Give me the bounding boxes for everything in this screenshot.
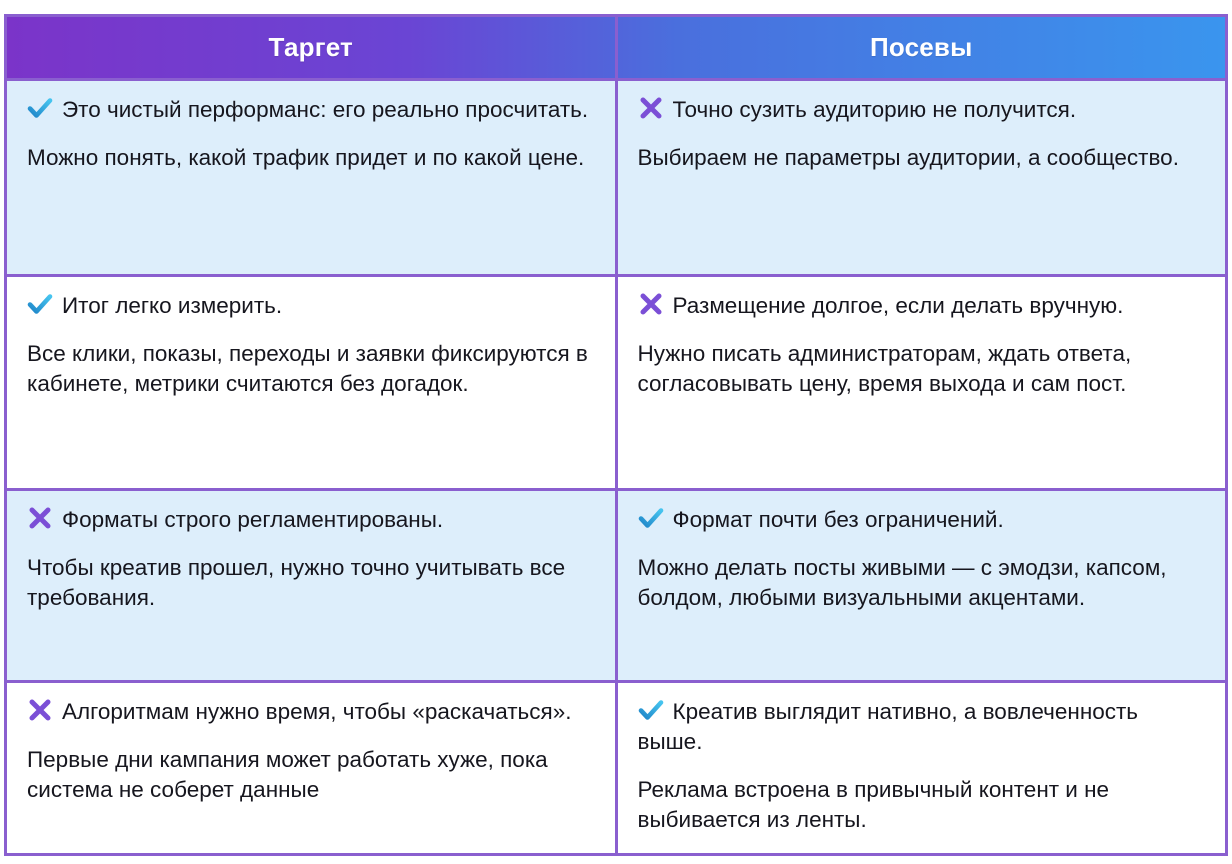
cell-body: Можно понять, какой трафик придет и по к…	[27, 143, 595, 173]
cell-body: Все клики, показы, переходы и заявки фик…	[27, 339, 595, 399]
cell-target-1: Это чистый перформанс: его реально просч…	[7, 81, 618, 274]
cross-icon	[638, 292, 664, 316]
cell-headline: Размещение долгое, если делать вручную.	[638, 291, 1206, 321]
cell-headline: Алгоритмам нужно время, чтобы «раскачать…	[27, 697, 595, 727]
cell-headline-text: Форматы строго регламентированы.	[62, 507, 443, 532]
cross-icon	[638, 96, 664, 120]
cell-headline: Креатив выглядит нативно, а вовлеченност…	[638, 697, 1206, 757]
cell-body: Можно делать посты живыми — с эмодзи, ка…	[638, 553, 1206, 613]
table-row: Алгоритмам нужно время, чтобы «раскачать…	[7, 683, 1225, 853]
cell-body: Чтобы креатив прошел, нужно точно учитыв…	[27, 553, 595, 613]
cell-target-3: Форматы строго регламентированы. Чтобы к…	[7, 491, 618, 680]
check-icon	[27, 292, 53, 316]
check-icon	[638, 698, 664, 722]
cell-headline-text: Итог легко измерить.	[62, 293, 282, 318]
cell-headline-text: Формат почти без ограничений.	[673, 507, 1004, 532]
comparison-table: Таргет Посевы Это чистый перформанс: его…	[4, 14, 1228, 856]
column-header-target-label: Таргет	[269, 32, 353, 63]
table-body: Это чистый перформанс: его реально просч…	[7, 81, 1225, 853]
cross-icon	[27, 506, 53, 530]
table-header-row: Таргет Посевы	[7, 17, 1225, 81]
cell-body: Первые дни кампания может работать хуже,…	[27, 745, 595, 805]
cell-body: Выбираем не параметры аудитории, а сообщ…	[638, 143, 1206, 173]
cell-headline: Формат почти без ограничений.	[638, 505, 1206, 535]
cell-headline-text: Алгоритмам нужно время, чтобы «раскачать…	[62, 699, 571, 724]
column-header-posevy-label: Посевы	[870, 32, 973, 63]
cell-posevy-4: Креатив выглядит нативно, а вовлеченност…	[618, 683, 1226, 853]
cell-body: Нужно писать администраторам, ждать отве…	[638, 339, 1206, 399]
cell-headline-text: Креатив выглядит нативно, а вовлеченност…	[638, 699, 1139, 754]
cell-headline-text: Размещение долгое, если делать вручную.	[673, 293, 1124, 318]
table-row: Форматы строго регламентированы. Чтобы к…	[7, 491, 1225, 683]
cell-headline: Итог легко измерить.	[27, 291, 595, 321]
cell-headline: Точно сузить аудиторию не получится.	[638, 95, 1206, 125]
table-row: Это чистый перформанс: его реально просч…	[7, 81, 1225, 277]
cell-headline-text: Точно сузить аудиторию не получится.	[673, 97, 1077, 122]
check-icon	[27, 96, 53, 120]
cross-icon	[27, 698, 53, 722]
cell-headline: Это чистый перформанс: его реально просч…	[27, 95, 595, 125]
cell-headline: Форматы строго регламентированы.	[27, 505, 595, 535]
column-header-target: Таргет	[7, 17, 618, 78]
cell-target-4: Алгоритмам нужно время, чтобы «раскачать…	[7, 683, 618, 853]
cell-body: Реклама встроена в привычный контент и н…	[638, 775, 1206, 835]
cell-headline-text: Это чистый перформанс: его реально просч…	[62, 97, 588, 122]
table-row: Итог легко измерить. Все клики, показы, …	[7, 277, 1225, 491]
check-icon	[638, 506, 664, 530]
cell-posevy-2: Размещение долгое, если делать вручную. …	[618, 277, 1226, 488]
cell-posevy-3: Формат почти без ограничений. Можно дела…	[618, 491, 1226, 680]
column-header-posevy: Посевы	[618, 17, 1226, 78]
cell-posevy-1: Точно сузить аудиторию не получится. Выб…	[618, 81, 1226, 274]
cell-target-2: Итог легко измерить. Все клики, показы, …	[7, 277, 618, 488]
